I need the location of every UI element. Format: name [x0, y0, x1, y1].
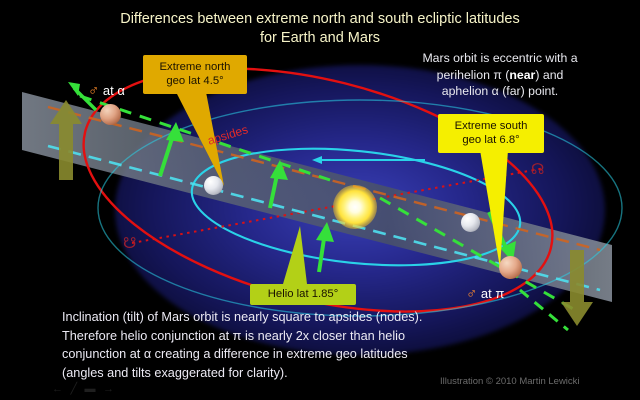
explanation-line-2: Therefore helio conjunction at π is near… [62, 327, 492, 346]
helio-callout-tail [283, 226, 307, 284]
label-mars-perihelion: ♂ at π [466, 285, 504, 302]
callout-extreme-south: Extreme south geo lat 6.8° [438, 114, 544, 153]
page-icon[interactable]: ▬ [85, 384, 96, 395]
mars-symbol-icon-2: ♂ [466, 285, 477, 302]
page-title: Differences between extreme north and so… [0, 10, 640, 48]
mars-symbol-icon: ♂ [88, 82, 99, 99]
note-line-2-post: ) and [535, 68, 563, 82]
callout-extreme-north: Extreme north geo lat 4.5° [143, 55, 247, 94]
earth-direction-arrow [312, 156, 425, 164]
title-line-1: Differences between extreme north and so… [0, 10, 640, 29]
callout-north-line-2: geo lat 4.5° [150, 74, 240, 88]
label-mars-aphelion-text: at α [103, 83, 125, 98]
bottom-toolbar[interactable]: ← ╱ ▬ → [52, 383, 114, 395]
explanation-line-4: (angles and tilts exaggerated for clarit… [62, 364, 492, 383]
eccentricity-note: Mars orbit is eccentric with a perihelio… [378, 50, 622, 100]
label-mars-aphelion: ♂ at α [88, 82, 125, 99]
green-dash-lower-right [520, 290, 568, 330]
label-mars-perihelion-text: at π [481, 286, 504, 301]
callout-south-line-1: Extreme south [445, 119, 537, 133]
explanation-line-1: Inclination (tilt) of Mars orbit is near… [62, 308, 492, 327]
diagram-canvas: Differences between extreme north and so… [0, 0, 640, 400]
note-near-bold: near [509, 68, 535, 82]
explanation-line-3: conjunction at α creating a difference i… [62, 345, 492, 364]
credit-text: Illustration © 2010 Martin Lewicki [440, 376, 580, 387]
planet-earth-left [204, 176, 223, 195]
planet-mars-perihelion [499, 256, 522, 279]
callout-south-line-2: geo lat 6.8° [445, 133, 537, 147]
green-arrow-up-right [316, 222, 334, 272]
sun [333, 185, 377, 229]
north-plane-arrow [50, 100, 82, 180]
pencil-icon[interactable]: ╱ [70, 384, 77, 395]
callout-north-line-1: Extreme north [150, 60, 240, 74]
callout-helio-lat: Helio lat 1.85° [250, 284, 356, 305]
forward-icon[interactable]: → [103, 384, 114, 395]
planet-earth-right [461, 213, 480, 232]
ascending-node-icon: ☊ [531, 160, 544, 178]
note-line-2: perihelion π (near) and [378, 67, 622, 84]
title-line-2: for Earth and Mars [0, 29, 640, 48]
note-line-1: Mars orbit is eccentric with a [378, 50, 622, 67]
green-north-arrow-2 [270, 160, 288, 208]
descending-node-icon: ☋ [123, 234, 136, 252]
callout-helio-line-1: Helio lat 1.85° [257, 287, 349, 301]
note-line-2-pre: perihelion π ( [437, 68, 510, 82]
note-line-3: aphelion α (far) point. [378, 83, 622, 100]
explanation-text: Inclination (tilt) of Mars orbit is near… [62, 308, 492, 382]
planet-mars-aphelion [100, 104, 121, 125]
back-icon[interactable]: ← [52, 384, 63, 395]
